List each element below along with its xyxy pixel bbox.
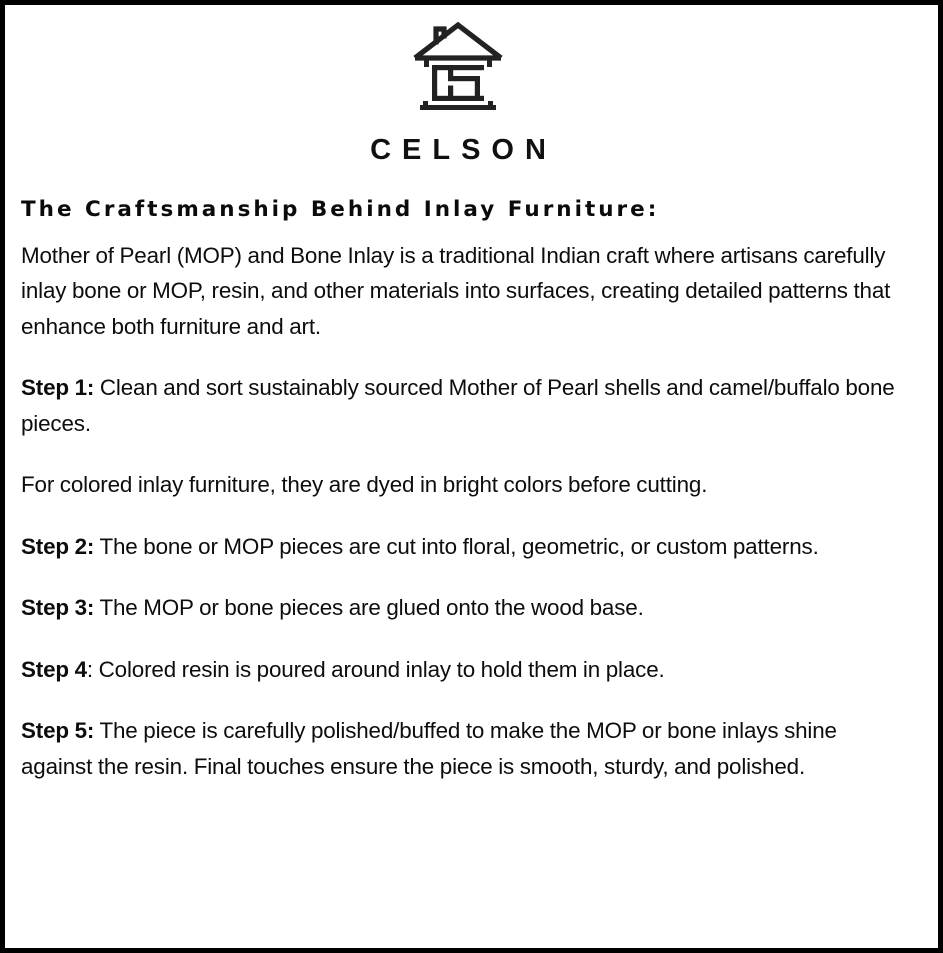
brand-wordmark: CELSON xyxy=(16,136,900,165)
paragraph-lead: Step 3: xyxy=(21,595,94,620)
paragraph-step-3: Step 3: The MOP or bone pieces are glued… xyxy=(21,590,900,626)
paragraph-text: Clean and sort sustainably sourced Mothe… xyxy=(21,375,895,436)
paragraph-text: For colored inlay furniture, they are dy… xyxy=(21,472,707,497)
paragraph-step-5: Step 5: The piece is carefully polished/… xyxy=(21,713,900,784)
paragraph-step-4: Step 4: Colored resin is poured around i… xyxy=(21,652,900,688)
article-body: Mother of Pearl (MOP) and Bone Inlay is … xyxy=(21,238,900,785)
paragraph-text: Colored resin is poured around inlay to … xyxy=(93,657,665,682)
paragraph-lead: Step 2: xyxy=(21,534,94,559)
paragraph-text: The MOP or bone pieces are glued onto th… xyxy=(94,595,643,620)
paragraph-dye-note: For colored inlay furniture, they are dy… xyxy=(21,467,900,503)
paragraph-lead: Step 1: xyxy=(21,375,94,400)
paragraph-text: The piece is carefully polished/buffed t… xyxy=(21,718,837,779)
paragraph-step-1: Step 1: Clean and sort sustainably sourc… xyxy=(21,370,900,441)
house-monogram-logo-icon xyxy=(410,17,506,115)
poster-card: CELSON The Craftsmanship Behind Inlay Fu… xyxy=(0,0,943,953)
paragraph-lead: Step 4 xyxy=(21,657,87,682)
poster-content: CELSON The Craftsmanship Behind Inlay Fu… xyxy=(5,5,938,948)
paragraph-text: The bone or MOP pieces are cut into flor… xyxy=(94,534,818,559)
paragraph-intro: Mother of Pearl (MOP) and Bone Inlay is … xyxy=(21,238,900,345)
paragraph-text: Mother of Pearl (MOP) and Bone Inlay is … xyxy=(21,243,890,339)
paragraph-lead: Step 5: xyxy=(21,718,94,743)
page-title: The Craftsmanship Behind Inlay Furniture… xyxy=(21,198,900,222)
brand-logo-block: CELSON xyxy=(16,12,900,165)
paragraph-step-2: Step 2: The bone or MOP pieces are cut i… xyxy=(21,529,900,565)
